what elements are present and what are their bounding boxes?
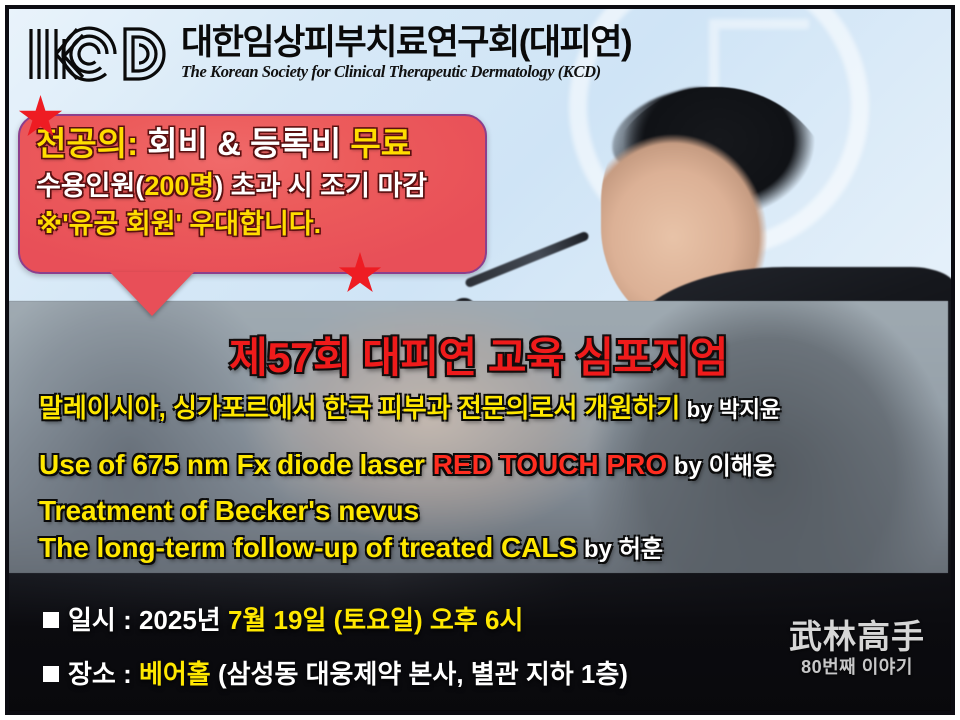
venue-label: 장소 :	[68, 659, 132, 689]
lecture-speaker-sep	[702, 453, 709, 480]
lecture-speaker: 박지윤	[719, 397, 781, 422]
lecture-by: by	[674, 453, 702, 480]
lecture-by-sep	[667, 453, 674, 480]
lecture-by: by	[687, 397, 713, 422]
venue-highlight: 베어홀	[139, 659, 211, 689]
lecture-title: Use of 675 nm Fx diode laser	[39, 449, 433, 480]
lecture-title: 말레이시아, 싱가포르에서 한국 피부과 전문의로서 개원하기	[39, 393, 680, 423]
notice-line3-text: ※'유공 회원' 우대합니다.	[36, 209, 321, 239]
lecture-title-accent: RED TOUCH PRO	[433, 449, 667, 480]
notice-line-1: 전공의: 회비 & 등록비 무료	[36, 127, 471, 161]
event-info: 일시 : 2025년 7월 19일 (토요일) 오후 6시 장소 : 베어홀 (…	[43, 607, 628, 687]
watermark-subtitle: 80번째 이야기	[789, 657, 925, 679]
lecture-speaker: 허훈	[619, 536, 663, 563]
square-bullet-icon	[43, 666, 59, 682]
lecture-by: by	[584, 536, 612, 563]
lecture-by-sep	[577, 536, 584, 563]
lecture-title: The long-term follow-up of treated CALS	[39, 532, 577, 563]
society-name-en: The Korean Society for Clinical Therapeu…	[181, 62, 631, 82]
watermark-title: 武林高手	[789, 621, 925, 656]
venue-space	[132, 659, 139, 689]
poster-frame: 대한임상피부치료연구회(대피연) The Korean Society for …	[5, 5, 955, 715]
lecture-item: 말레이시아, 싱가포르에서 한국 피부과 전문의로서 개원하기 by 박지윤	[39, 395, 949, 421]
lecture-item: The long-term follow-up of treated CALS …	[39, 534, 949, 562]
notice-line-2: 수용인원(200명) 초과 시 조기 마감	[36, 173, 471, 201]
lecture-item: Treatment of Becker's nevus	[39, 497, 949, 525]
notice-line1-mid: 회비 & 등록비	[138, 125, 350, 162]
square-bullet-icon	[43, 612, 59, 628]
venue-detail: (삼성동 대웅제약 본사, 별관 지하 1층)	[211, 659, 628, 689]
lecture-list: 말레이시아, 싱가포르에서 한국 피부과 전문의로서 개원하기 by 박지윤 U…	[39, 395, 949, 563]
poster-root: 대한임상피부치료연구회(대피연) The Korean Society for …	[0, 0, 960, 720]
notice-callout-tail	[110, 272, 194, 316]
series-watermark: 武林高手 80번째 이야기	[789, 621, 925, 678]
notice-line-3: ※'유공 회원' 우대합니다.	[36, 211, 471, 239]
lecture-title: Treatment of Becker's nevus	[39, 495, 419, 526]
organization-header: 대한임상피부치료연구회(대피연) The Korean Society for …	[23, 23, 631, 85]
society-names: 대한임상피부치료연구회(대피연) The Korean Society for …	[181, 24, 631, 82]
date-pre: 2025년	[132, 605, 228, 635]
notice-callout: 전공의: 회비 & 등록비 무료 수용인원(200명) 초과 시 조기 마감 ※…	[18, 114, 487, 274]
notice-line2-post: ) 초과 시 조기 마감	[214, 171, 427, 201]
lecture-speaker-sep	[612, 536, 619, 563]
kcd-logo-icon	[23, 23, 171, 85]
event-date-line: 일시 : 2025년 7월 19일 (토요일) 오후 6시	[43, 607, 628, 633]
date-highlight: 7월 19일 (토요일) 오후 6시	[228, 605, 523, 635]
society-name-kr: 대한임상피부치료연구회(대피연)	[181, 24, 631, 61]
notice-line2-pre: 수용인원(	[36, 171, 144, 201]
lecture-item: Use of 675 nm Fx diode laser RED TOUCH P…	[39, 451, 949, 479]
notice-line2-highlight: 200명	[144, 171, 214, 201]
event-venue-line: 장소 : 베어홀 (삼성동 대웅제약 본사, 별관 지하 1층)	[43, 661, 628, 687]
date-label: 일시 :	[68, 605, 132, 635]
lecture-speaker: 이해웅	[709, 453, 775, 480]
symposium-title: 제57회 대피연 교육 심포지엄	[9, 324, 948, 385]
notice-line1-highlight: 무료	[350, 125, 411, 162]
